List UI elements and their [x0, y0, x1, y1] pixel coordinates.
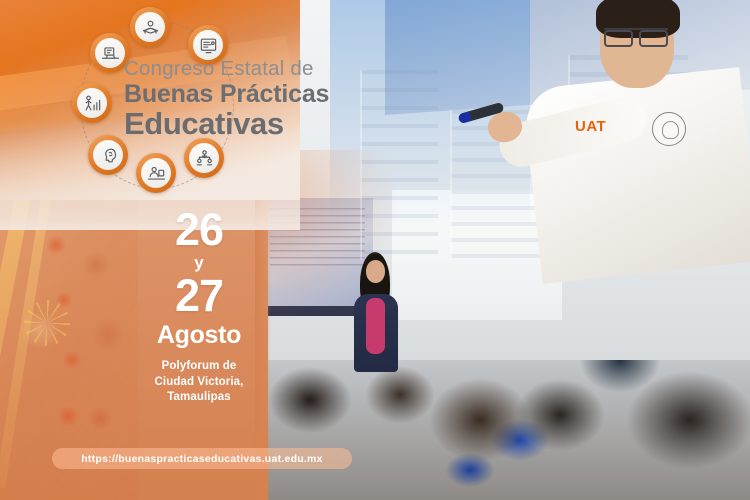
brain-idea-icon — [88, 135, 128, 175]
presenter-man: UAT — [470, 0, 750, 270]
title-line-2: Buenas Prácticas — [124, 81, 364, 107]
date-day-2: 27 — [140, 274, 258, 317]
title-line-3: Educativas — [124, 108, 364, 140]
laptop-icon-inner — [95, 38, 125, 68]
woman-face — [366, 260, 385, 283]
eyeglasses-icon — [604, 28, 668, 41]
poster-title: Congreso Estatal de Buenas Prácticas Edu… — [124, 58, 364, 140]
venue-text: Polyforum de Ciudad Victoria, Tamaulipas — [140, 359, 258, 406]
graduate-icon-inner — [135, 12, 165, 42]
uat-shirt-logo: UAT — [575, 118, 606, 135]
growth-icon — [72, 83, 112, 123]
screen-text-lines — [270, 208, 365, 268]
graduate-icon — [130, 7, 170, 47]
growth-icon-inner — [77, 88, 107, 118]
date-day-1: 26 — [140, 208, 258, 251]
date-venue-block: 26 y 27 Agosto Polyforum de Ciudad Victo… — [140, 208, 258, 406]
date-month: Agosto — [140, 322, 258, 350]
network-icon — [184, 138, 224, 178]
brain-idea-icon-inner — [93, 140, 123, 170]
title-line-1: Congreso Estatal de — [124, 58, 364, 80]
venue-line-3: Tamaulipas — [140, 390, 258, 406]
presenter-woman — [352, 252, 400, 372]
teacher-icon-inner — [141, 158, 171, 188]
teacher-icon — [136, 153, 176, 193]
woman-shirt — [366, 298, 385, 354]
network-icon-inner — [189, 143, 219, 173]
board-icon-inner — [193, 30, 223, 60]
uat-shoulder-emblem — [652, 112, 686, 146]
venue-line-1: Polyforum de — [140, 359, 258, 375]
website-url-pill[interactable]: https://buenaspracticaseducativas.uat.ed… — [52, 448, 352, 469]
venue-line-2: Ciudad Victoria, — [140, 375, 258, 391]
event-poster: UAT — [0, 0, 750, 500]
